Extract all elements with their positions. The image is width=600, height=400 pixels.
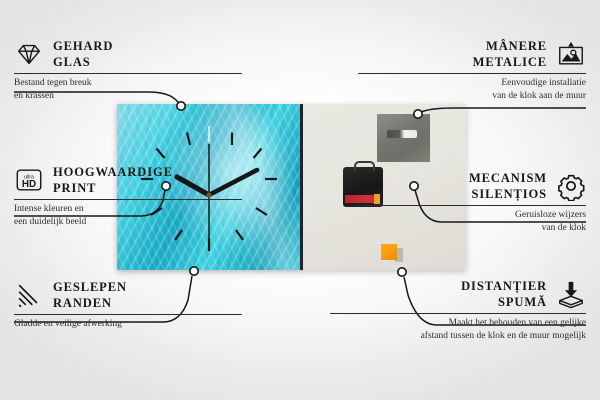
feature-title: HOOGWAARDIGE PRINT bbox=[53, 164, 173, 196]
arrow-down-to-pad-icon bbox=[556, 279, 586, 309]
diamond-icon bbox=[14, 39, 44, 69]
feature-title: DISTANȚIER SPUMĂ bbox=[461, 278, 547, 310]
feature-distantier-spuma: DISTANȚIER SPUMĂ Maakt het behouden van … bbox=[330, 278, 586, 343]
feature-divider bbox=[330, 313, 586, 314]
feature-manere-metalice: MÂNERE METALICE Eenvoudige installatie v… bbox=[358, 38, 586, 103]
feature-description: Eenvoudige installatie van de klok aan d… bbox=[358, 77, 586, 103]
ultra-hd-icon: ultra HD bbox=[14, 165, 44, 195]
feature-title: GEHARD GLAS bbox=[53, 38, 113, 70]
feature-title: MÂNERE METALICE bbox=[473, 38, 547, 70]
feature-divider bbox=[358, 205, 586, 206]
foam-spacer bbox=[381, 244, 397, 260]
ultra-hd-icon-large-text: HD bbox=[22, 179, 36, 190]
feature-header: MECANISM SILENȚIOS bbox=[358, 170, 586, 202]
feature-geslepen-randen: GESLEPEN RANDEN Gladde en veilige afwerk… bbox=[14, 279, 242, 331]
feature-description: Bestand tegen breuk en krassen bbox=[14, 77, 242, 103]
product-feature-infographic: GEHARD GLAS Bestand tegen breuk en krass… bbox=[0, 0, 600, 400]
feature-description: Maakt het behouden van een gelijke afsta… bbox=[330, 317, 586, 343]
metal-hanger-plate bbox=[377, 114, 430, 162]
gear-icon bbox=[556, 171, 586, 201]
feature-title: GESLEPEN RANDEN bbox=[53, 279, 127, 311]
feature-header: DISTANȚIER SPUMĂ bbox=[330, 278, 586, 310]
feature-header: GEHARD GLAS bbox=[14, 38, 242, 70]
feature-header: MÂNERE METALICE bbox=[358, 38, 586, 70]
picture-frame-hanging-icon bbox=[556, 39, 586, 69]
hanger-slot bbox=[387, 130, 417, 138]
feature-description: Intense kleuren en een duidelijk beeld bbox=[14, 203, 242, 229]
feature-description: Geruisloze wijzers van de klok bbox=[358, 209, 586, 235]
feature-gehard-glas: GEHARD GLAS Bestand tegen breuk en krass… bbox=[14, 38, 242, 103]
feature-divider bbox=[358, 73, 586, 74]
feature-divider bbox=[14, 73, 242, 74]
bevelled-edges-icon bbox=[14, 280, 44, 310]
feature-header: GESLEPEN RANDEN bbox=[14, 279, 242, 311]
feature-divider bbox=[14, 314, 242, 315]
feature-divider bbox=[14, 199, 242, 200]
feature-title: MECANISM SILENȚIOS bbox=[469, 170, 547, 202]
feature-description: Gladde en veilige afwerking bbox=[14, 318, 242, 331]
feature-hoogwaardige-print: ultra HD HOOGWAARDIGE PRINT Intense kleu… bbox=[14, 164, 242, 229]
feature-header: ultra HD HOOGWAARDIGE PRINT bbox=[14, 164, 242, 196]
feature-mecanism-silentios: MECANISM SILENȚIOS Geruisloze wijzers va… bbox=[358, 170, 586, 235]
